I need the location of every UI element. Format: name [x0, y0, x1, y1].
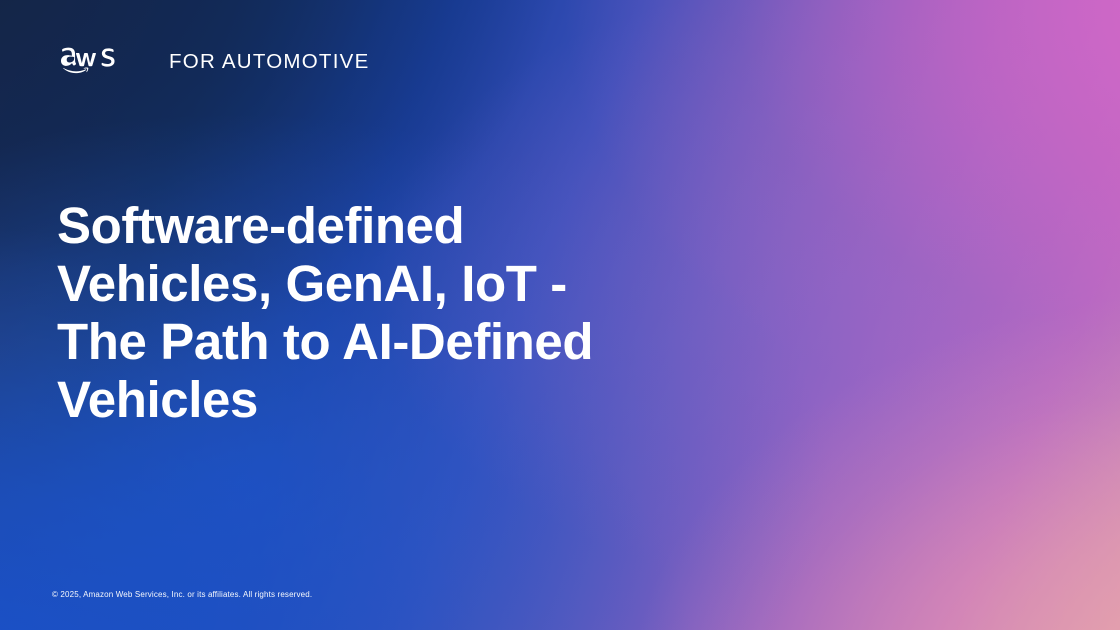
aws-logo-lockup: FOR AUTOMOTIVE: [57, 42, 370, 98]
sub-brand-label: FOR AUTOMOTIVE: [169, 52, 370, 73]
title-slide: FOR AUTOMOTIVE Software-defined Vehicles…: [0, 0, 1120, 630]
title-line-3: The Path to AI-Defined: [57, 313, 757, 371]
aws-logo-icon: [57, 42, 149, 98]
copyright-notice: © 2025, Amazon Web Services, Inc. or its…: [52, 590, 312, 600]
title-line-2: Vehicles, GenAI, IoT -: [57, 255, 757, 313]
title-line-1: Software-defined: [57, 197, 757, 255]
title-line-4: Vehicles: [57, 371, 757, 429]
page-title: Software-defined Vehicles, GenAI, IoT - …: [57, 197, 757, 429]
aws-smile-swoosh-icon: [63, 67, 88, 73]
